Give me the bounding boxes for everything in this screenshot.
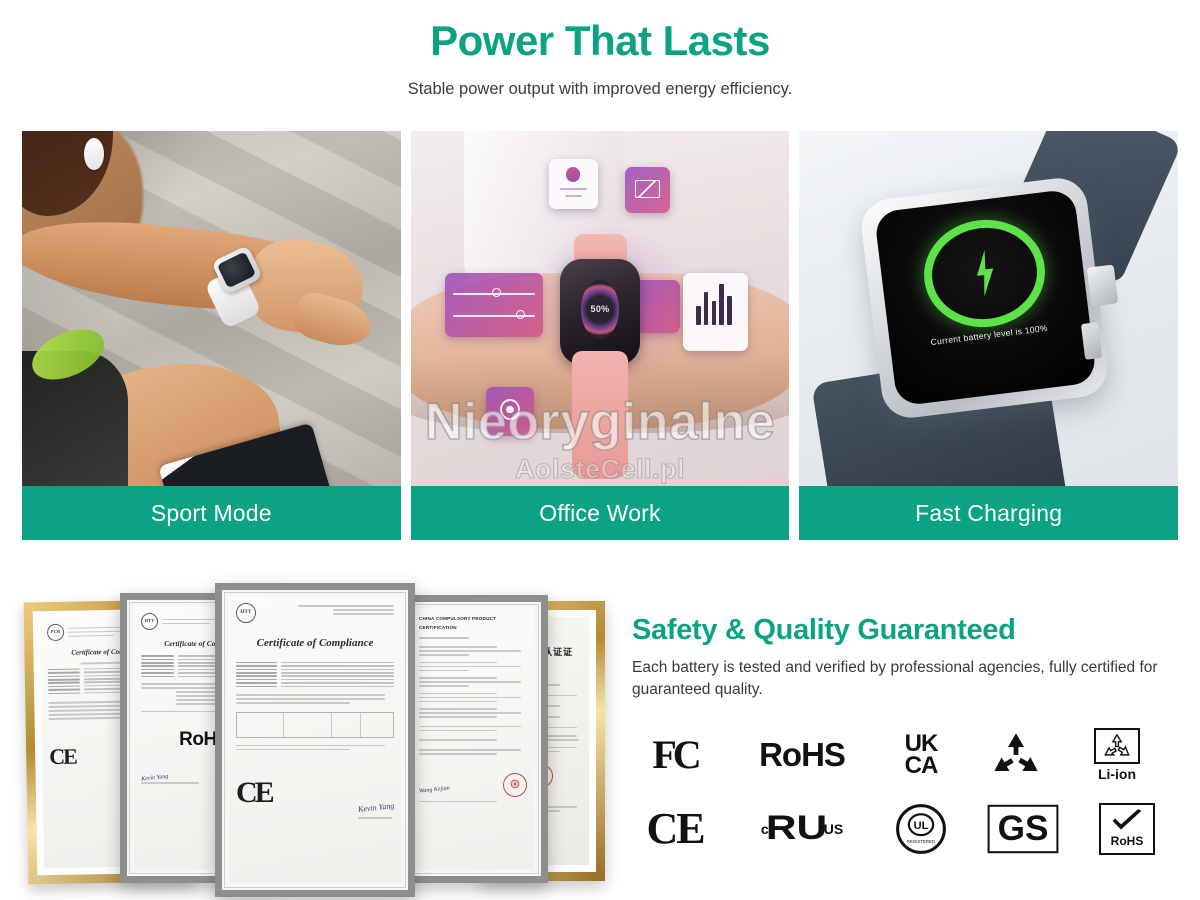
- safety-title: Safety & Quality Guaranteed: [632, 615, 1176, 647]
- feature-card-label: Sport Mode: [22, 486, 401, 540]
- badge-row-2: CE c RU US UL REGISTERED: [632, 798, 1176, 860]
- sliders-app-card: [445, 273, 543, 337]
- page-header: Power That Lasts Stable power output wit…: [0, 0, 1200, 99]
- ukca-bottom: CA: [905, 755, 938, 777]
- watch-progress-value: 50%: [591, 304, 610, 314]
- svg-text:GS: GS: [998, 809, 1049, 848]
- cul-us-icon: c RU US: [742, 802, 862, 856]
- li-ion-recycle-icon: Li-ion: [1076, 728, 1158, 782]
- svg-text:REGISTERED: REGISTERED: [907, 839, 935, 844]
- feature-card-row: Sport Mode: [22, 131, 1178, 540]
- office-work-photo: 50%: [411, 131, 790, 486]
- htt-logo: HTT: [141, 613, 158, 630]
- htt-logo: HTT: [236, 603, 256, 623]
- rohs-check-icon: RoHS: [1090, 802, 1164, 856]
- feature-card-label: Fast Charging: [799, 486, 1178, 540]
- contact-app-card: [549, 159, 598, 209]
- li-ion-label: Li-ion: [1098, 766, 1136, 782]
- certification-badges: FC RoHS UK CA: [632, 724, 1176, 860]
- chart-app-card: [683, 273, 747, 351]
- watch-crown: [1087, 264, 1118, 306]
- feature-card-office-work[interactable]: 50% Office Work: [411, 131, 790, 540]
- page-subtitle: Stable power output with improved energy…: [0, 80, 1200, 99]
- feature-card-sport-mode[interactable]: Sport Mode: [22, 131, 401, 540]
- svg-text:UL: UL: [914, 820, 929, 832]
- watch-progress-dial: 50%: [581, 280, 619, 339]
- sport-mode-photo: [22, 131, 401, 486]
- official-stamp: ⊛: [503, 773, 527, 797]
- gear-icon: [486, 387, 533, 437]
- recycle-icon: [980, 728, 1052, 782]
- page-title: Power That Lasts: [0, 18, 1200, 64]
- fast-charging-photo: Current battery level is 100%: [799, 131, 1178, 486]
- ukca-icon: UK CA: [886, 728, 956, 782]
- safety-section: PCB Certificate of Compliance: [0, 585, 1200, 900]
- ul-registered-icon: UL REGISTERED: [886, 802, 956, 856]
- safety-info: Safety & Quality Guaranteed Each battery…: [620, 585, 1200, 900]
- certificate-title: Certificate of Compliance: [236, 633, 394, 654]
- certificate-ccc[interactable]: CHINA COMPULSORY PRODUCT CERTIFICATION W…: [398, 595, 548, 883]
- product-feature-page: Power That Lasts Stable power output wit…: [0, 0, 1200, 900]
- certificate-mark: CE: [236, 764, 272, 821]
- certificate-title: CHINA COMPULSORY PRODUCT CERTIFICATION: [419, 615, 527, 632]
- mail-app-card: [625, 167, 670, 213]
- cul-mark: RU: [765, 809, 826, 848]
- certificate-htt-ce[interactable]: HTT Certificate of Compliance: [215, 583, 415, 897]
- feature-card-label: Office Work: [411, 486, 790, 540]
- rohs-check-label: RoHS: [1111, 834, 1144, 848]
- safety-description: Each battery is tested and verified by p…: [632, 657, 1176, 702]
- ce-icon: CE: [632, 802, 718, 856]
- feature-card-fast-charging[interactable]: Current battery level is 100% Fast Charg…: [799, 131, 1178, 540]
- rohs-icon: RoHS: [742, 728, 862, 782]
- fcc-icon: FC: [632, 728, 718, 782]
- certificate-mark: CE: [49, 735, 76, 777]
- badge-row-1: FC RoHS UK CA: [632, 724, 1176, 786]
- certificate-stack: PCB Certificate of Compliance: [0, 585, 620, 900]
- gs-icon: GS: [980, 802, 1066, 856]
